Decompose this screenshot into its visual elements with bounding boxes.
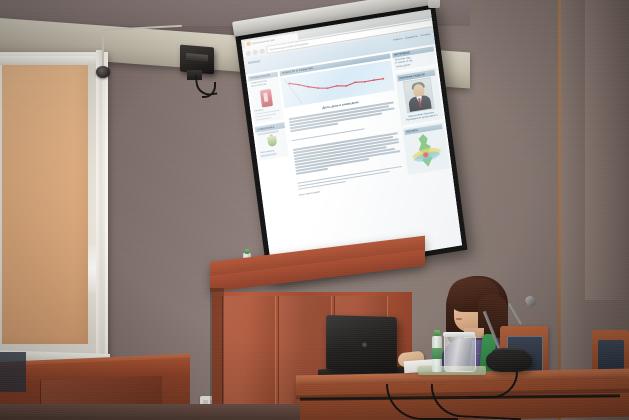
projector-screen[interactable]: Официальный сайт http://www.gov-portal.r… [241, 9, 462, 276]
blind-roller-bar[interactable] [0, 56, 96, 65]
chart-marker [288, 83, 290, 85]
podium-shadow [210, 288, 224, 420]
microphone-base[interactable] [486, 350, 532, 372]
left-dark-panel [0, 352, 26, 392]
sidebar-block-symbols: СИМВОЛИКА Герб региона [255, 122, 289, 160]
pitcher-lid [443, 332, 475, 337]
sidebar-block-official: ОФИЦИАЛЬНО Правительство Министерства Ре… [248, 72, 284, 125]
bottle-cap [434, 330, 439, 336]
chart-marker [298, 84, 300, 86]
water-pitcher[interactable] [444, 336, 476, 372]
site-brand: ПОРТАЛ [248, 59, 261, 65]
window-vertical-trim [96, 50, 102, 362]
right-wall-highlight [585, 0, 629, 300]
nav-item-contacts[interactable]: Контакты [420, 33, 431, 38]
nav-item-news[interactable]: Новости [393, 37, 403, 41]
person-of-week-block: ПЕРСОНА НЕДЕЛИ Иванов Иван Иванович Рук [395, 67, 443, 125]
logo-svg [407, 131, 445, 172]
region-map-logo-icon [407, 131, 445, 172]
table-water-bottle[interactable] [432, 330, 442, 372]
screen-roller-cap [428, 0, 440, 8]
official-portrait-photo [403, 77, 435, 113]
reload-icon[interactable] [259, 48, 265, 54]
nav-item-documents[interactable]: Документы [405, 35, 418, 40]
screenshot-root: Официальный сайт http://www.gov-portal.r… [0, 0, 629, 420]
bottle-label [432, 348, 442, 359]
sidebar-text-line [256, 117, 272, 121]
laptop-logo-icon [362, 342, 367, 347]
chart-decor-line [285, 78, 302, 106]
sidebar-block2-body: Герб региона [255, 128, 288, 160]
ceiling-sensor-icon [96, 66, 110, 78]
chair-right-upholstery [598, 340, 624, 370]
sensor-cable [102, 30, 104, 68]
chart-marker [373, 79, 375, 81]
region-block: РЕГИОН [402, 122, 450, 176]
sidebar-block1-body: Правительство Министерства Регионы [249, 77, 284, 124]
arrow-right-icon[interactable] [252, 49, 258, 55]
floor [0, 404, 300, 420]
podium-panel [222, 296, 276, 416]
chart-marker [382, 78, 384, 80]
coat-of-arms-icon [263, 134, 280, 149]
bottle-cap [245, 249, 249, 254]
page-columns: ОФИЦИАЛЬНО Правительство Министерства Ре… [246, 44, 462, 276]
laptop-lid[interactable] [326, 315, 397, 376]
chart-marker [317, 87, 319, 89]
browser-window[interactable]: Официальный сайт http://www.gov-portal.r… [241, 9, 462, 276]
crest-shield-icon [267, 136, 277, 147]
site-nav-menu[interactable]: Новости Документы Контакты [393, 33, 431, 42]
chart-marker [308, 86, 310, 88]
red-emblem-banner-icon [259, 88, 272, 107]
favicon-icon [246, 42, 250, 47]
arrow-left-icon[interactable] [245, 50, 251, 56]
window-roller-blind[interactable] [2, 62, 88, 344]
wall-corner-trim [558, 0, 561, 420]
chart-marker [364, 81, 366, 83]
website-page: ПОРТАЛ Новости Документы Контакты ОФИЦИА… [244, 28, 463, 276]
